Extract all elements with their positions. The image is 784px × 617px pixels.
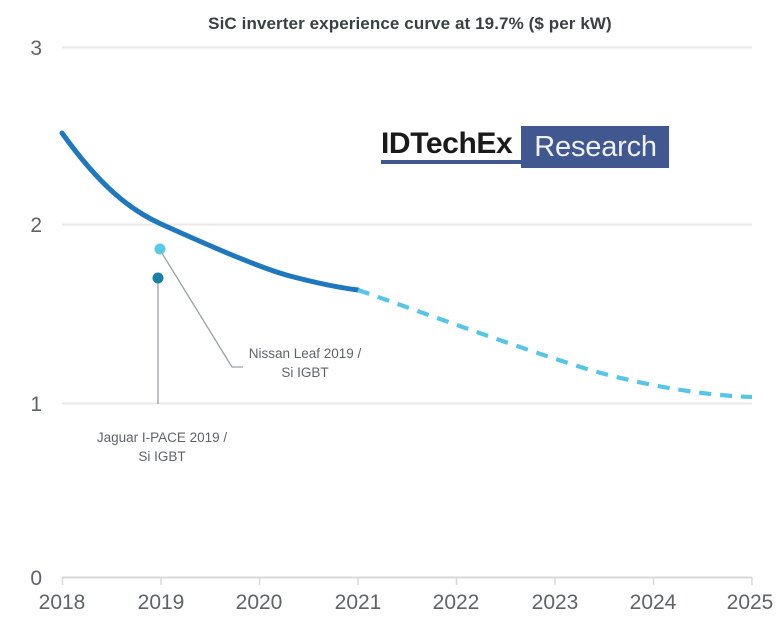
- x-tick-label-2021: 2021: [335, 591, 382, 614]
- x-tick-label-2022: 2022: [433, 591, 480, 614]
- y-tick-label-1: 1: [30, 393, 42, 416]
- x-tick-label-2023: 2023: [532, 591, 579, 614]
- x-tick-label-2024: 2024: [630, 591, 677, 614]
- x-tick-label-2018: 2018: [39, 591, 86, 614]
- logo-research-badge: Research: [521, 126, 669, 168]
- chart-plot-area: 3 2 1 0 2018 2019 2020 2021 2022 2023 20…: [0, 0, 784, 617]
- y-tick-label-3: 3: [30, 37, 42, 60]
- x-tick-label-2019: 2019: [138, 591, 185, 614]
- annotation-nissan-leaf-line2: Si IGBT: [281, 365, 328, 380]
- logo-wordmark: IDTechEx: [381, 126, 521, 164]
- annotation-jaguar-ipace-line1: Jaguar I-PACE 2019 /: [97, 430, 228, 445]
- y-tick-label-2: 2: [30, 214, 42, 237]
- x-tick-label-2025: 2025: [727, 591, 774, 614]
- series-line-forecast: [358, 290, 752, 397]
- data-point-nissan-leaf[interactable]: [155, 244, 166, 255]
- y-tick-label-0: 0: [30, 567, 42, 590]
- annotation-jaguar-ipace-line2: Si IGBT: [138, 449, 185, 464]
- chart-container: SiC inverter experience curve at 19.7% (…: [0, 0, 784, 617]
- x-axis-tick-labels: 2018 2019 2020 2021 2022 2023 2024 2025: [39, 591, 774, 614]
- annotation-jaguar-ipace: Jaguar I-PACE 2019 / Si IGBT: [97, 430, 228, 464]
- leader-line-nissan-leaf: [160, 250, 243, 367]
- annotation-nissan-leaf-line1: Nissan Leaf 2019 /: [249, 346, 362, 361]
- data-point-jaguar-ipace[interactable]: [153, 273, 164, 284]
- x-tick-label-2020: 2020: [236, 591, 283, 614]
- annotation-nissan-leaf: Nissan Leaf 2019 / Si IGBT: [249, 346, 362, 380]
- y-axis-tick-labels: 3 2 1 0: [30, 37, 42, 590]
- series-line-historic: [62, 133, 358, 290]
- idtechex-research-logo: IDTechEx Research: [381, 126, 669, 168]
